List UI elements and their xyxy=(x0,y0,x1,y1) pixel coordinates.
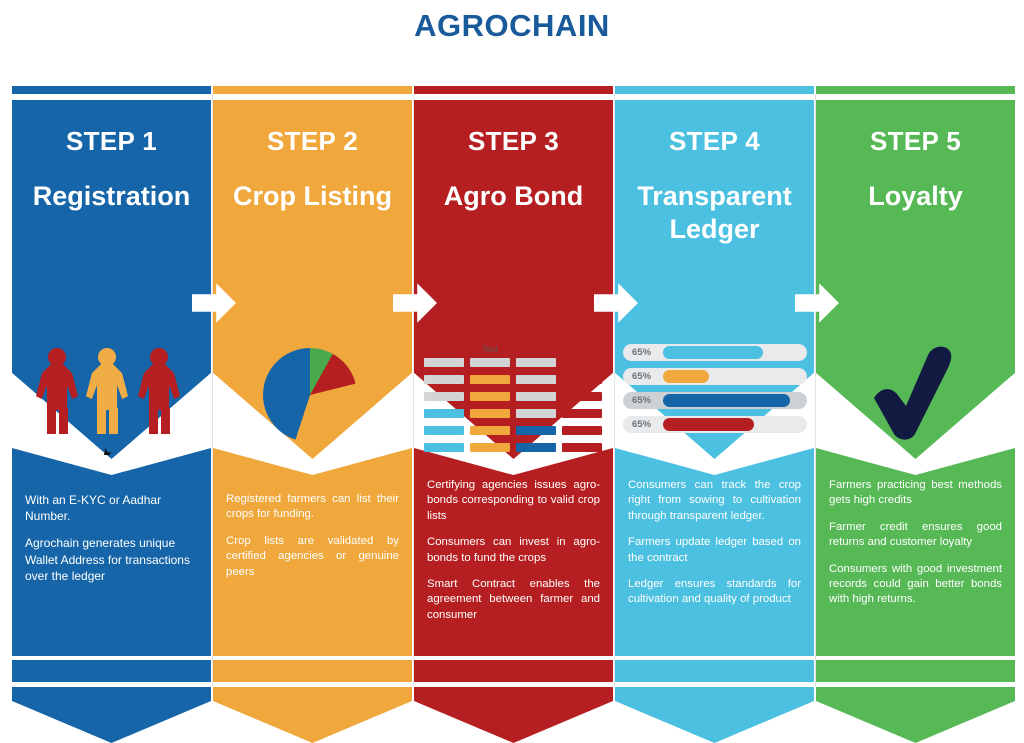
column-foot-chevron xyxy=(615,687,814,743)
icon-zone-4: 65% 65% 65% 65% xyxy=(615,334,814,452)
person-figure-icon xyxy=(138,348,180,432)
progress-label: 65% xyxy=(632,419,651,430)
description-paragraph: Agrochain generates unique Wallet Addres… xyxy=(25,535,198,584)
column-top-strip xyxy=(213,86,412,94)
column-bottom-strip xyxy=(816,660,1015,682)
step-number-label: STEP 5 xyxy=(816,126,1015,157)
progress-fill xyxy=(663,346,763,359)
column-top-strip xyxy=(615,86,814,94)
column-bottom-strip xyxy=(12,660,211,682)
step-number-label: STEP 1 xyxy=(12,126,211,157)
description-paragraph: Registered farmers can list their crops … xyxy=(226,492,399,523)
icon-zone-1 xyxy=(12,334,211,452)
description-paragraph: Smart Contract enables the agreement bet… xyxy=(427,577,600,623)
check-mark-icon xyxy=(866,342,958,442)
column-foot-chevron xyxy=(816,687,1015,743)
progress-fill xyxy=(663,370,709,383)
step-number-label: STEP 2 xyxy=(213,126,412,157)
step-title: Registration xyxy=(12,180,211,213)
step-body-2: Registered farmers can list their crops … xyxy=(213,448,412,656)
description-paragraph: Farmers practicing best methods gets hig… xyxy=(829,478,1002,509)
step-number-label: STEP 3 xyxy=(414,126,613,157)
description-paragraph: Crop lists are validated by certified ag… xyxy=(226,534,399,580)
step-column-5[interactable]: STEP 5 Loyalty Farmers practicing best m… xyxy=(816,86,1015,686)
cursor-icon xyxy=(104,448,111,455)
progress-label: 65% xyxy=(632,347,651,358)
step-title: Crop Listing xyxy=(213,180,412,213)
step-body-3: Certifying agencies issues agro-bonds co… xyxy=(414,448,613,656)
step-description-1: With an E-KYC or Aadhar Number. Agrochai… xyxy=(12,492,211,595)
progress-label: 65% xyxy=(632,395,651,406)
description-paragraph: Farmers update ledger based on the contr… xyxy=(628,535,801,566)
step-description-4: Consumers can track the crop right from … xyxy=(615,478,814,619)
step-title: Loyalty xyxy=(816,180,1015,213)
description-paragraph: Ledger ensures standards for cultivation… xyxy=(628,577,801,608)
grid-text-label: Text xyxy=(468,344,512,354)
step-column-1[interactable]: STEP 1 Registration xyxy=(12,86,211,686)
progress-bars-icon: 65% 65% 65% 65% xyxy=(623,344,807,440)
step-body-5: Farmers practicing best methods gets hig… xyxy=(816,448,1015,656)
column-top-strip xyxy=(414,86,613,94)
infographic-page: AGROCHAIN STEP 1 Registration xyxy=(0,0,1024,723)
column-bottom-strip xyxy=(213,660,412,682)
column-foot-chevron xyxy=(414,687,613,743)
description-paragraph: With an E-KYC or Aadhar Number. xyxy=(25,492,198,524)
description-paragraph: Farmer credit ensures good returns and c… xyxy=(829,520,1002,551)
person-figure-icon xyxy=(36,348,78,432)
column-top-strip xyxy=(12,86,211,94)
icon-zone-2 xyxy=(213,334,412,452)
list-grid-icon: Text xyxy=(424,344,604,454)
step-title: Transparent Ledger xyxy=(615,180,814,246)
description-paragraph: Certifying agencies issues agro-bonds co… xyxy=(427,478,600,524)
person-figure-icon xyxy=(86,348,128,432)
pie-chart-icon xyxy=(263,348,357,442)
step-body-1: With an E-KYC or Aadhar Number. Agrochai… xyxy=(12,448,211,656)
step-column-2[interactable]: STEP 2 Crop Listing Registered farmers c… xyxy=(213,86,412,686)
step-description-5: Farmers practicing best methods gets hig… xyxy=(816,478,1015,619)
page-title: AGROCHAIN xyxy=(0,8,1024,44)
column-foot-chevron xyxy=(213,687,412,743)
description-paragraph: Consumers can invest in agro-bonds to fu… xyxy=(427,535,600,566)
icon-zone-5 xyxy=(816,334,1015,452)
column-bottom-strip xyxy=(414,660,613,682)
description-paragraph: Consumers with good investment records c… xyxy=(829,562,1002,608)
progress-fill xyxy=(663,418,754,431)
progress-row: 65% xyxy=(623,368,807,385)
step-number-label: STEP 4 xyxy=(615,126,814,157)
steps-container: STEP 1 Registration xyxy=(12,86,1012,686)
icon-zone-3: Text xyxy=(414,334,613,452)
step-description-2: Registered farmers can list their crops … xyxy=(213,492,412,591)
progress-row: 65% xyxy=(623,416,807,433)
column-foot-chevron xyxy=(12,687,211,743)
step-column-3[interactable]: STEP 3 Agro Bond Text xyxy=(414,86,613,686)
step-description-3: Certifying agencies issues agro-bonds co… xyxy=(414,478,613,634)
progress-label: 65% xyxy=(632,371,651,382)
step-column-4[interactable]: STEP 4 Transparent Ledger 65% 65% xyxy=(615,86,814,686)
progress-row: 65% xyxy=(623,344,807,361)
people-icon xyxy=(12,348,211,448)
column-bottom-strip xyxy=(615,660,814,682)
step-body-4: Consumers can track the crop right from … xyxy=(615,448,814,656)
description-paragraph: Consumers can track the crop right from … xyxy=(628,478,801,524)
step-title: Agro Bond xyxy=(414,180,613,213)
progress-row: 65% xyxy=(623,392,807,409)
column-top-strip xyxy=(816,86,1015,94)
progress-fill xyxy=(663,394,790,407)
